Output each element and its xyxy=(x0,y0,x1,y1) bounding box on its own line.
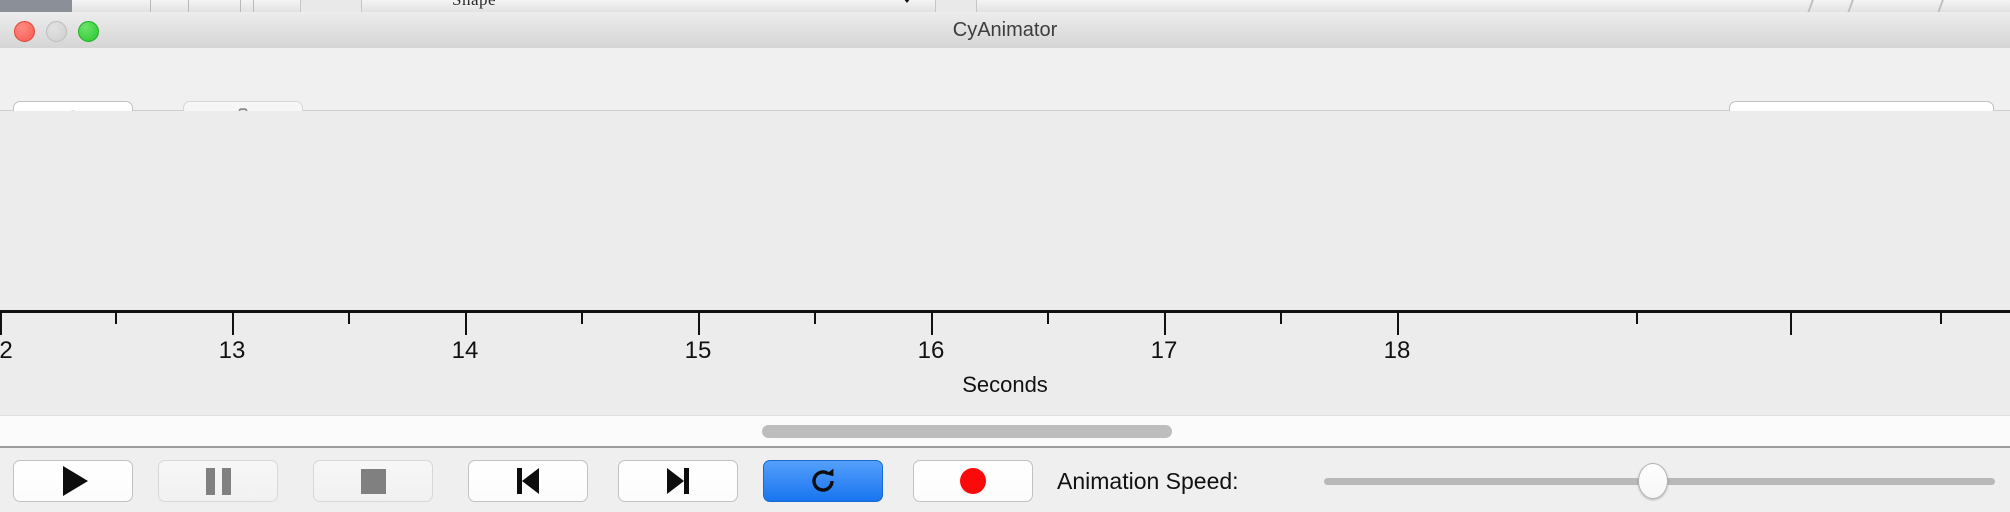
ruler-label: 2 xyxy=(0,337,13,365)
ruler-label: 16 xyxy=(918,337,945,365)
ruler-tick-major xyxy=(232,313,234,335)
ruler-label: 15 xyxy=(685,337,712,365)
slider-thumb[interactable] xyxy=(1638,463,1668,499)
frame-toolbar: + Clear All Frames xyxy=(0,48,2010,111)
ruler-tick-minor xyxy=(115,313,117,324)
play-icon xyxy=(63,466,88,496)
ruler-tick-minor xyxy=(1280,313,1282,324)
timeline-scrollbar[interactable] xyxy=(0,415,2010,447)
window-title: CyAnimator xyxy=(0,12,2010,48)
ruler-label: 17 xyxy=(1151,337,1178,365)
ruler-tick-minor xyxy=(814,313,816,324)
ruler-axis-title: Seconds xyxy=(0,372,2010,398)
ruler-tick-major xyxy=(1164,313,1166,335)
title-bar: CyAnimator xyxy=(0,12,2010,49)
loop-button[interactable] xyxy=(763,460,883,502)
skip-previous-icon xyxy=(517,468,539,494)
background-caret-icon xyxy=(900,0,914,3)
stop-icon xyxy=(361,469,386,494)
loop-refresh-icon xyxy=(808,466,838,496)
previous-frame-button[interactable] xyxy=(468,460,588,502)
pause-icon xyxy=(206,468,231,495)
ruler-label: 18 xyxy=(1384,337,1411,365)
stop-button[interactable] xyxy=(313,460,433,502)
animation-speed-slider[interactable] xyxy=(1324,474,1995,488)
cyanimator-window: Shape CyAnimator + Clear All Fram xyxy=(0,0,2010,510)
ruler-axis-line xyxy=(0,310,2010,313)
play-button[interactable] xyxy=(13,460,133,502)
ruler-label: 13 xyxy=(219,337,246,365)
ruler-tick-minor xyxy=(581,313,583,324)
ruler-tick-major xyxy=(931,313,933,335)
ruler-tick-major xyxy=(0,313,2,335)
ruler-tick-minor xyxy=(1940,313,1942,324)
ruler-tick-minor xyxy=(1636,313,1638,324)
animation-speed-label: Animation Speed: xyxy=(1057,460,1239,502)
next-frame-button[interactable] xyxy=(618,460,738,502)
record-button[interactable] xyxy=(913,460,1033,502)
ruler-tick-major xyxy=(698,313,700,335)
ruler-tick-minor xyxy=(348,313,350,324)
ruler-tick-major xyxy=(1790,313,1792,335)
ruler-tick-major xyxy=(465,313,467,335)
record-circle-icon xyxy=(960,468,986,494)
ruler-tick-major xyxy=(1397,313,1399,335)
background-window-label: Shape xyxy=(452,0,496,10)
ruler-label: 14 xyxy=(452,337,479,365)
background-window-strip: Shape xyxy=(0,0,2010,12)
pause-button[interactable] xyxy=(158,460,278,502)
timeline-scrollbar-thumb[interactable] xyxy=(762,425,1172,438)
timeline-ruler[interactable]: 2 13 14 15 16 17 18 Seconds xyxy=(0,310,2010,415)
frame-timeline-area[interactable]: MCM1 xyxy=(0,111,2010,310)
skip-next-icon xyxy=(667,468,689,494)
ruler-tick-minor xyxy=(1047,313,1049,324)
